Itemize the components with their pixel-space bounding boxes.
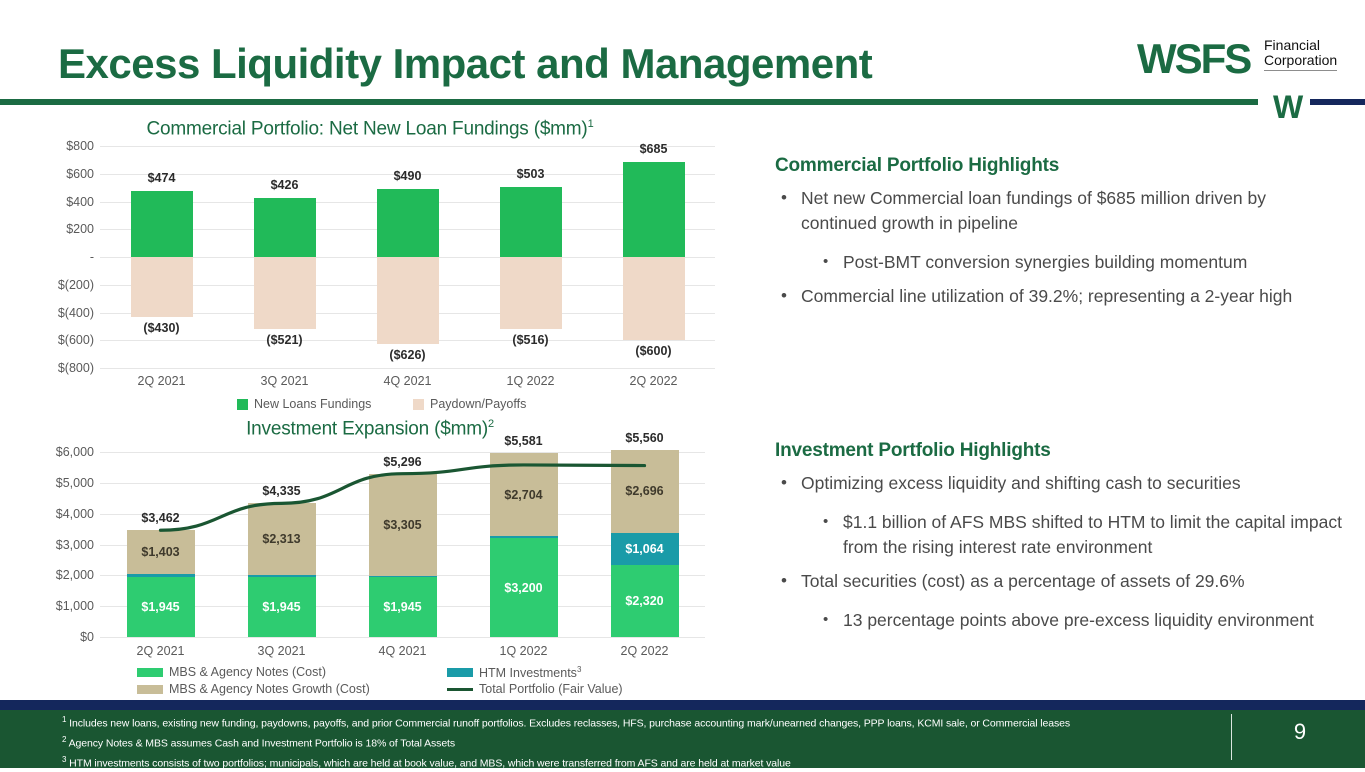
y-axis-tick-label: $0 (80, 630, 94, 644)
bar-paydown-payoffs (623, 257, 685, 340)
y-axis-tick-label: $400 (66, 195, 94, 209)
gridline (100, 368, 715, 369)
y-axis-tick-label: $4,000 (56, 507, 94, 521)
sub-bullet-item: $1.1 billion of AFS MBS shifted to HTM t… (775, 510, 1345, 560)
x-axis-tick-label: 1Q 2022 (507, 374, 555, 388)
page-number: 9 (1280, 719, 1320, 745)
bullet-item: Total securities (cost) as a percentage … (775, 569, 1345, 594)
chart1-plot-area: $800$600$400$200-$(200)$(400)$(600)$(800… (100, 146, 715, 368)
y-axis-tick-label: $2,000 (56, 568, 94, 582)
chart-commercial-portfolio: Commercial Portfolio: Net New Loan Fundi… (0, 118, 740, 413)
bar-value-label: ($521) (266, 333, 302, 347)
sub-bullet-item: Post-BMT conversion synergies building m… (775, 250, 1345, 275)
panel-investment-highlights: Investment Portfolio Highlights Optimizi… (775, 440, 1345, 633)
y-axis-tick-label: $(600) (58, 333, 94, 347)
page-title: Excess Liquidity Impact and Management (58, 40, 872, 88)
legend-swatch (137, 685, 163, 694)
panel-bullet-list: Optimizing excess liquidity and shifting… (775, 471, 1345, 633)
logo-subtitle-line2: Corporation (1264, 53, 1337, 68)
footnote: 2 Agency Notes & MBS assumes Cash and In… (62, 732, 1212, 752)
legend-item[interactable]: MBS & Agency Notes (Cost) (137, 665, 326, 679)
y-axis-tick-label: $3,000 (56, 538, 94, 552)
logo-subtitle: Financial Corporation (1264, 38, 1337, 71)
panel-heading: Commercial Portfolio Highlights (775, 155, 1345, 177)
legend-label: MBS & Agency Notes Growth (Cost) (169, 682, 370, 696)
legend-footnote-marker: 3 (577, 665, 581, 674)
slide-header: Excess Liquidity Impact and Management W… (0, 0, 1365, 110)
footnote: 1 Includes new loans, existing new fundi… (62, 712, 1212, 732)
x-axis-tick-label: 2Q 2021 (138, 374, 186, 388)
x-axis-tick-label: 3Q 2021 (258, 644, 306, 658)
legend-swatch (447, 668, 473, 677)
logo-w-mark: W (1273, 92, 1301, 122)
chart1-title: Commercial Portfolio: Net New Loan Fundi… (0, 118, 740, 140)
panel-heading: Investment Portfolio Highlights (775, 440, 1345, 462)
footnote-marker: 1 (62, 715, 66, 724)
legend-label: Total Portfolio (Fair Value) (479, 682, 623, 696)
total-portfolio-line-series (100, 452, 705, 637)
legend-line-marker (447, 688, 473, 691)
legend-label: HTM Investments3 (479, 665, 581, 680)
bar-new-loan-fundings (500, 187, 562, 257)
x-axis-tick-label: 1Q 2022 (500, 644, 548, 658)
bar-value-label: ($516) (512, 333, 548, 347)
legend-label: MBS & Agency Notes (Cost) (169, 665, 326, 679)
chart2-plot-area: $6,000$5,000$4,000$3,000$2,000$1,000$0$1… (100, 452, 705, 637)
bar-value-label: ($626) (389, 348, 425, 362)
x-axis-tick-label: 2Q 2022 (621, 644, 669, 658)
bar-new-loan-fundings (623, 162, 685, 257)
x-axis-tick-label: 4Q 2021 (379, 644, 427, 658)
footnote: 3 HTM investments consists of two portfo… (62, 752, 1212, 772)
bar-value-label: $490 (394, 169, 422, 183)
panel-commercial-highlights: Commercial Portfolio Highlights Net new … (775, 155, 1345, 309)
sub-bullet-item: 13 percentage points above pre-excess li… (775, 608, 1345, 633)
bar-value-label: $474 (148, 171, 176, 185)
legend-item[interactable]: Total Portfolio (Fair Value) (447, 682, 623, 696)
y-axis-tick-label: $200 (66, 222, 94, 236)
legend-label: New Loans Fundings (254, 397, 371, 411)
header-rule-green (0, 99, 1258, 105)
footer-navy-strip (0, 700, 1365, 710)
x-axis-tick-label: 4Q 2021 (384, 374, 432, 388)
chart-investment-expansion: Investment Expansion ($mm)2 $6,000$5,000… (0, 418, 740, 698)
bullet-item: Commercial line utilization of 39.2%; re… (775, 284, 1345, 309)
bar-paydown-payoffs (500, 257, 562, 329)
bar-total-label: $5,581 (504, 434, 542, 448)
x-axis-tick-label: 2Q 2022 (630, 374, 678, 388)
logo-wordmark: WSFS (1137, 35, 1250, 83)
bar-new-loan-fundings (377, 189, 439, 257)
bar-value-label: $503 (517, 167, 545, 181)
bar-value-label: $426 (271, 178, 299, 192)
legend-item[interactable]: MBS & Agency Notes Growth (Cost) (137, 682, 370, 696)
y-axis-tick-label: - (90, 250, 94, 264)
gridline (100, 637, 705, 638)
title-footnote-marker: 2 (488, 418, 494, 430)
footnote-marker: 3 (62, 755, 66, 764)
y-axis-tick-label: $6,000 (56, 445, 94, 459)
footer-divider (1231, 714, 1232, 760)
bullet-item: Net new Commercial loan fundings of $685… (775, 186, 1345, 236)
bar-paydown-payoffs (131, 257, 193, 317)
legend-label: Paydown/Payoffs (430, 397, 526, 411)
bar-total-label: $5,560 (625, 431, 663, 445)
bar-new-loan-fundings (131, 191, 193, 257)
logo-subtitle-line1: Financial (1264, 38, 1337, 53)
y-axis-tick-label: $800 (66, 139, 94, 153)
y-axis-tick-label: $5,000 (56, 476, 94, 490)
bar-paydown-payoffs (254, 257, 316, 329)
wsfs-logo: WSFS Financial Corporation W (1133, 30, 1363, 110)
legend-swatch (237, 399, 248, 410)
legend-item[interactable]: New Loans Fundings (237, 397, 371, 411)
y-axis-tick-label: $600 (66, 167, 94, 181)
title-footnote-marker: 1 (588, 118, 594, 130)
y-axis-tick-label: $(200) (58, 278, 94, 292)
y-axis-tick-label: $(800) (58, 361, 94, 375)
line-path (161, 465, 645, 530)
bar-paydown-payoffs (377, 257, 439, 344)
legend-item[interactable]: Paydown/Payoffs (413, 397, 526, 411)
footnote-marker: 2 (62, 735, 66, 744)
gridline (100, 146, 715, 147)
x-axis-tick-label: 3Q 2021 (261, 374, 309, 388)
legend-item[interactable]: HTM Investments3 (447, 665, 581, 680)
bar-value-label: ($600) (635, 344, 671, 358)
footnotes: 1 Includes new loans, existing new fundi… (62, 712, 1212, 772)
panel-bullet-list: Net new Commercial loan fundings of $685… (775, 186, 1345, 309)
legend-swatch (413, 399, 424, 410)
x-axis-tick-label: 2Q 2021 (137, 644, 185, 658)
bar-value-label: ($430) (143, 321, 179, 335)
y-axis-tick-label: $(400) (58, 306, 94, 320)
bullet-item: Optimizing excess liquidity and shifting… (775, 471, 1345, 496)
bar-value-label: $685 (640, 142, 668, 156)
legend-swatch (137, 668, 163, 677)
bar-new-loan-fundings (254, 198, 316, 257)
y-axis-tick-label: $1,000 (56, 599, 94, 613)
